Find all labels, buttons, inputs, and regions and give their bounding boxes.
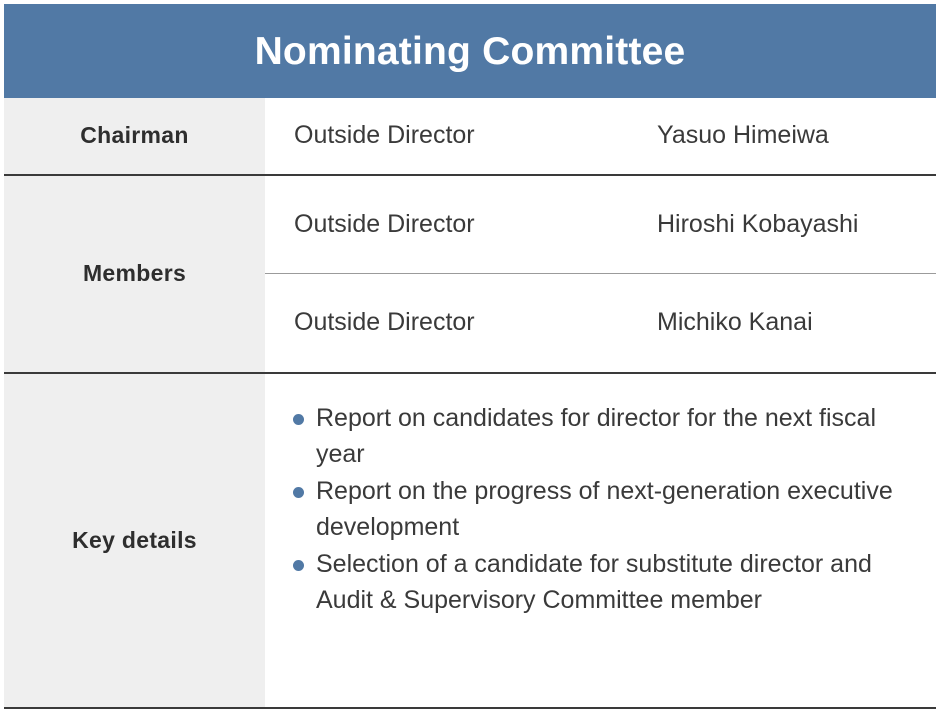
row-body-chairman: Outside Director Yasuo Himeiwa bbox=[265, 98, 936, 174]
table-row-chairman: Chairman Outside Director Yasuo Himeiwa bbox=[4, 98, 936, 176]
row-label-text: Members bbox=[83, 260, 186, 288]
person-row: Outside Director Hiroshi Kobayashi bbox=[265, 176, 936, 274]
bullet-icon bbox=[293, 560, 304, 571]
table-row-key-details: Key details Report on candidates for dir… bbox=[4, 374, 936, 709]
page-title: Nominating Committee bbox=[255, 32, 686, 71]
person-name: Michiko Kanai bbox=[657, 307, 813, 338]
person-name: Yasuo Himeiwa bbox=[657, 120, 829, 151]
list-item: Report on the progress of next-generatio… bbox=[292, 474, 914, 545]
row-label-text: Chairman bbox=[80, 122, 188, 150]
row-label-text: Key details bbox=[72, 527, 197, 555]
row-body-key-details: Report on candidates for director for th… bbox=[265, 374, 936, 707]
person-row: Outside Director Yasuo Himeiwa bbox=[265, 98, 936, 174]
committee-table: Chairman Outside Director Yasuo Himeiwa … bbox=[4, 98, 936, 709]
nominating-committee-card: Nominating Committee Chairman Outside Di… bbox=[4, 4, 936, 703]
row-label-members: Members bbox=[4, 176, 265, 372]
bullet-icon bbox=[293, 414, 304, 425]
person-role: Outside Director bbox=[294, 209, 657, 240]
person-role: Outside Director bbox=[294, 307, 657, 338]
row-label-chairman: Chairman bbox=[4, 98, 265, 174]
list-item-text: Selection of a candidate for substitute … bbox=[316, 550, 872, 614]
person-role: Outside Director bbox=[294, 120, 657, 151]
table-row-members: Members Outside Director Hiroshi Kobayas… bbox=[4, 176, 936, 374]
card-header: Nominating Committee bbox=[4, 4, 936, 98]
list-item: Report on candidates for director for th… bbox=[292, 401, 914, 472]
person-name: Hiroshi Kobayashi bbox=[657, 209, 859, 240]
list-item-text: Report on the progress of next-generatio… bbox=[316, 477, 893, 541]
row-body-members: Outside Director Hiroshi Kobayashi Outsi… bbox=[265, 176, 936, 372]
person-row: Outside Director Michiko Kanai bbox=[265, 274, 936, 372]
bullet-icon bbox=[293, 487, 304, 498]
list-item: Selection of a candidate for substitute … bbox=[292, 547, 914, 618]
row-label-key-details: Key details bbox=[4, 374, 265, 707]
key-details-list: Report on candidates for director for th… bbox=[292, 401, 914, 618]
list-item-text: Report on candidates for director for th… bbox=[316, 404, 876, 468]
